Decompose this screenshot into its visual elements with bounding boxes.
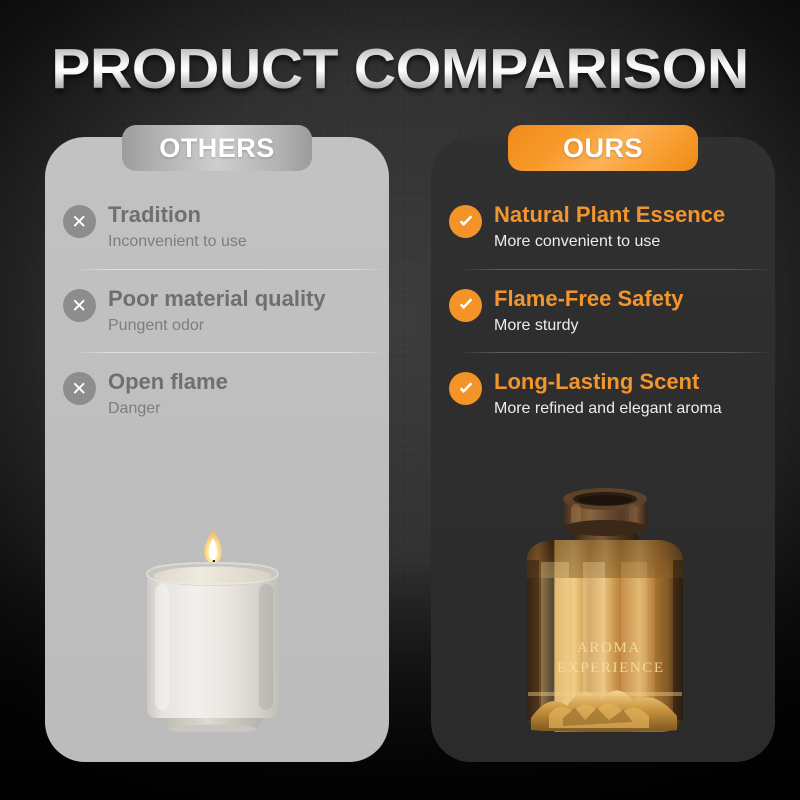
list-divider: [463, 352, 769, 353]
list-item: Tradition Inconvenient to use: [45, 202, 389, 253]
list-divider: [463, 269, 769, 270]
list-item: Poor material quality Pungent odor: [45, 286, 389, 337]
list-divider: [77, 269, 383, 270]
tab-ours-label: OURS: [563, 133, 643, 164]
ours-feature-list: Natural Plant Essence More convenient to…: [431, 202, 775, 420]
aroma-diffuser-bottle-image: AROMA EXPERIENCE: [505, 482, 705, 747]
page-title-text: PRODUCT COMPARISON: [0, 36, 800, 102]
others-feature-list: Tradition Inconvenient to use Poor mater…: [45, 202, 389, 420]
list-item: Open flame Danger: [45, 369, 389, 420]
list-item-title: Flame-Free Safety: [494, 286, 755, 312]
tab-others[interactable]: OTHERS: [122, 125, 312, 171]
x-mark-icon: [63, 289, 96, 322]
check-mark-icon: [449, 289, 482, 322]
list-item-subtitle: Danger: [108, 398, 369, 420]
list-item-subtitle: Pungent odor: [108, 315, 369, 337]
check-mark-icon: [449, 372, 482, 405]
list-item-title: Natural Plant Essence: [494, 202, 755, 228]
tab-others-label: OTHERS: [159, 133, 275, 164]
tab-ours[interactable]: OURS: [508, 125, 698, 171]
svg-text:EXPERIENCE: EXPERIENCE: [557, 660, 665, 676]
list-item-title: Tradition: [108, 202, 369, 228]
scented-candle-image: [125, 522, 300, 732]
product-comparison-infographic: PRODUCT COMPARISON PRODUCT COMPARISON OT…: [0, 0, 800, 800]
list-item: Flame-Free Safety More sturdy: [431, 286, 775, 337]
list-item-subtitle: Inconvenient to use: [108, 231, 369, 253]
list-divider: [77, 352, 383, 353]
list-item-title: Poor material quality: [108, 286, 369, 312]
list-item: Natural Plant Essence More convenient to…: [431, 202, 775, 253]
list-item: Long-Lasting Scent More refined and eleg…: [431, 369, 775, 420]
list-item-subtitle: More convenient to use: [494, 231, 755, 253]
list-item-title: Long-Lasting Scent: [494, 369, 755, 395]
check-mark-icon: [449, 205, 482, 238]
list-item-title: Open flame: [108, 369, 369, 395]
x-mark-icon: [63, 205, 96, 238]
page-title: PRODUCT COMPARISON PRODUCT COMPARISON: [0, 36, 800, 102]
list-item-subtitle: More sturdy: [494, 315, 755, 337]
list-item-subtitle: More refined and elegant aroma: [494, 398, 755, 420]
x-mark-icon: [63, 372, 96, 405]
svg-text:AROMA: AROMA: [577, 640, 641, 656]
